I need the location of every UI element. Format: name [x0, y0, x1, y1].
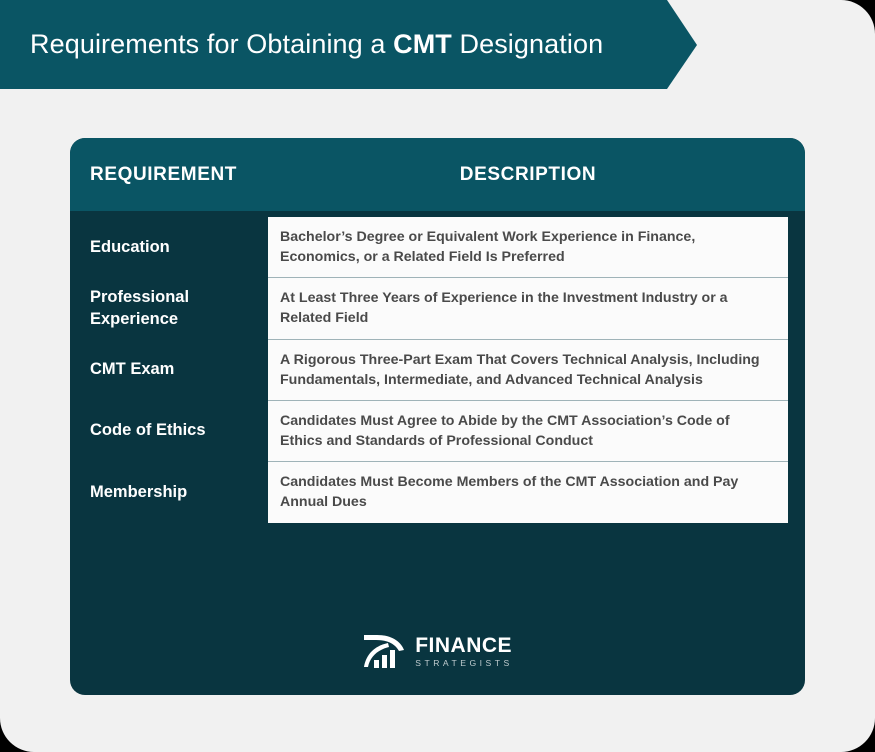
page-title-emphasis: CMT: [393, 29, 452, 59]
logo-secondary-text: STRATEGISTS: [415, 659, 513, 668]
row-description-education: Bachelor’s Degree or Equivalent Work Exp…: [268, 217, 788, 277]
page-title: Requirements for Obtaining a CMT Designa…: [0, 29, 603, 60]
row-label-professional-experience: Professional Experience: [70, 277, 268, 338]
table-body: Education Bachelor’s Degree or Equivalen…: [70, 211, 805, 523]
table-row: Membership Candidates Must Become Member…: [70, 461, 788, 522]
page-title-suffix: Designation: [452, 29, 603, 59]
table-row: Code of Ethics Candidates Must Agree to …: [70, 400, 788, 461]
page-title-prefix: Requirements for Obtaining a: [30, 29, 393, 59]
infographic-canvas: Requirements for Obtaining a CMT Designa…: [0, 0, 875, 752]
column-header-requirement: REQUIREMENT: [90, 164, 237, 186]
column-header-description: DESCRIPTION: [268, 164, 788, 186]
logo-primary-text: FINANCE: [415, 635, 513, 656]
row-description-professional-experience: At Least Three Years of Experience in th…: [268, 277, 788, 338]
row-description-membership: Candidates Must Become Members of the CM…: [268, 461, 788, 522]
logo-wordmark: FINANCE STRATEGISTS: [415, 635, 513, 668]
table-header-row: REQUIREMENT DESCRIPTION: [70, 138, 805, 211]
table-row: Education Bachelor’s Degree or Equivalen…: [70, 217, 788, 277]
header-banner: Requirements for Obtaining a CMT Designa…: [0, 0, 700, 89]
row-label-membership: Membership: [70, 461, 268, 522]
row-label-code-of-ethics: Code of Ethics: [70, 400, 268, 461]
requirements-table-card: REQUIREMENT DESCRIPTION Education Bachel…: [70, 138, 805, 695]
row-label-cmt-exam: CMT Exam: [70, 339, 268, 400]
row-label-education: Education: [70, 217, 268, 277]
brand-logo: FINANCE STRATEGISTS: [70, 633, 805, 669]
row-description-cmt-exam: A Rigorous Three-Part Exam That Covers T…: [268, 339, 788, 400]
row-description-code-of-ethics: Candidates Must Agree to Abide by the CM…: [268, 400, 788, 461]
finance-strategists-chart-icon: [362, 633, 406, 669]
table-row: Professional Experience At Least Three Y…: [70, 277, 788, 338]
table-row: CMT Exam A Rigorous Three-Part Exam That…: [70, 339, 788, 400]
